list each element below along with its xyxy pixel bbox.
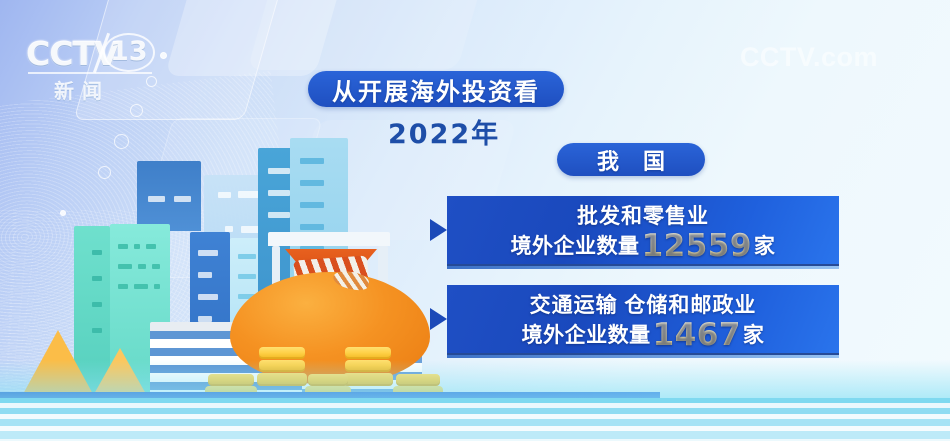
building-window <box>198 272 212 278</box>
building-window <box>218 192 231 198</box>
building-window <box>118 244 128 249</box>
building-window <box>300 180 324 186</box>
broadcast-graphic: CCTV 13 新闻 CCTV.com <box>0 0 950 441</box>
bg-soft-shape <box>247 0 483 70</box>
year-label: 2022年 <box>388 112 500 151</box>
building-window <box>268 168 290 174</box>
building-window <box>154 284 160 289</box>
logo-divider <box>28 72 152 74</box>
building-window <box>134 244 140 249</box>
building-window <box>300 202 324 208</box>
building-icon <box>268 232 390 246</box>
building-window <box>174 196 191 202</box>
building-window <box>118 284 128 289</box>
stat-category: 批发和零售业 <box>447 200 839 230</box>
building-window <box>238 191 260 198</box>
subject-label: 我 国 <box>588 144 674 176</box>
building-window <box>92 276 102 281</box>
stat-unit: 家 <box>743 324 765 347</box>
building-window <box>268 190 290 196</box>
building-window <box>238 254 256 259</box>
building-window <box>198 250 218 256</box>
water-reflection <box>0 398 950 441</box>
building-window <box>138 264 146 269</box>
building-window <box>92 302 102 307</box>
building-window <box>92 250 102 255</box>
cctv-com-watermark: CCTV.com <box>740 42 878 73</box>
stat-metric: 境外企业数量12559家 <box>447 228 839 264</box>
page-title: 从开展海外投资看 <box>332 72 540 107</box>
channel-name: 新闻 <box>54 75 110 104</box>
building-window <box>118 264 132 269</box>
building-window <box>152 264 160 269</box>
building-window <box>198 294 218 300</box>
stat-metric: 境外企业数量1467家 <box>447 317 839 353</box>
page-title-pill: 从开展海外投资看 <box>308 71 564 107</box>
building-window <box>238 274 256 279</box>
water-tint <box>0 360 950 402</box>
triangle-right-icon <box>430 308 447 330</box>
building-window <box>300 158 324 164</box>
building-window <box>146 244 156 249</box>
watermark-suffix: .com <box>813 42 878 72</box>
stat-category: 交通运输 仓储和邮政业 <box>447 289 839 319</box>
stat-unit: 家 <box>754 235 776 258</box>
stat-bar: 交通运输 仓储和邮政业 境外企业数量1467家 <box>447 285 839 353</box>
building-window <box>134 284 148 289</box>
stat-value: 12559 <box>640 228 754 264</box>
cctv13-logo: CCTV 13 新闻 <box>24 34 159 96</box>
building-icon <box>137 161 201 231</box>
gold-coin-icon <box>345 347 391 359</box>
triangle-right-icon <box>430 219 447 241</box>
building-window <box>300 224 324 230</box>
stat-metric-prefix: 境外企业数量 <box>522 324 651 347</box>
building-window <box>268 212 290 218</box>
gold-coin-icon <box>259 347 305 359</box>
stat-metric-prefix: 境外企业数量 <box>511 235 640 258</box>
stat-value: 1467 <box>651 317 743 353</box>
subject-pill: 我 国 <box>557 143 705 176</box>
watermark-text: CCTV <box>740 42 813 72</box>
stat-bar: 批发和零售业 境外企业数量12559家 <box>447 196 839 264</box>
building-window <box>148 196 165 202</box>
channel-number: 13 <box>110 36 148 67</box>
